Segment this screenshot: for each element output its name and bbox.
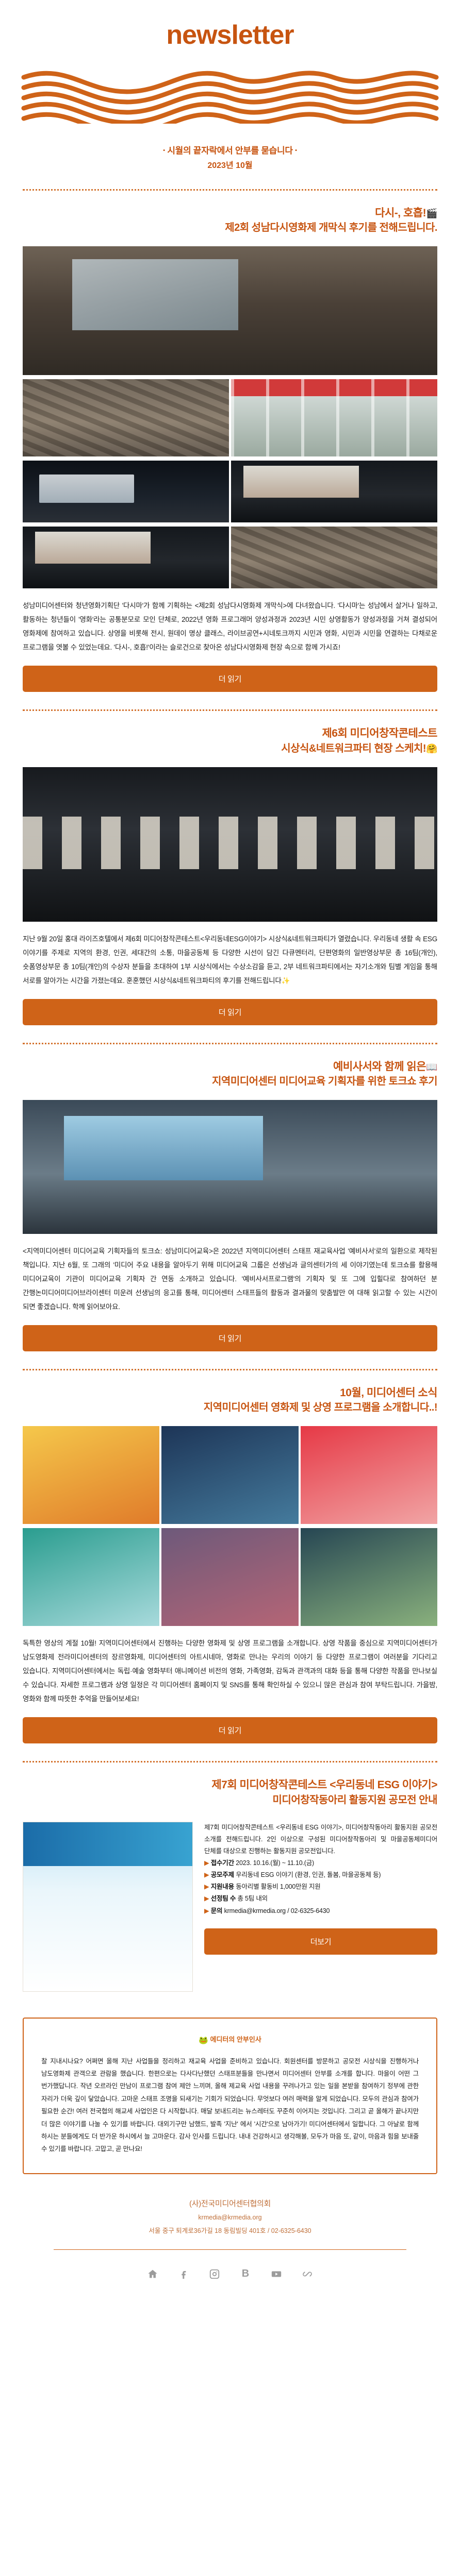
newsletter-page: newsletter ▪ 시월의 끝자락에서 안부를 묻습니다 ▪ 2023년 …	[0, 0, 460, 2301]
poster	[301, 1528, 437, 1626]
photo	[23, 461, 229, 522]
contest-more-button[interactable]: 더보기	[204, 1928, 437, 1955]
contest-section: 제7회 미디어창작콘테스트 <우리동네 ESG 이야기> 미디어창작동아리 활동…	[0, 1762, 460, 2009]
photo	[231, 379, 437, 456]
contest-details: 제7회 미디어창작콘테스트 <우리동네 ESG 이야기>, 미디어창작동아리 활…	[204, 1822, 437, 1955]
issue-date: 2023년 10월	[0, 158, 460, 171]
tagline-marker-right: ▪	[295, 147, 297, 154]
article-1-photo-row-2	[23, 461, 437, 522]
contest-poster	[23, 1822, 193, 1992]
article-4-kicker: 10월, 미디어센터 소식	[23, 1386, 437, 1400]
editor-note-body: 찰 지내시나요? 어쩌면 올해 지난 사업들을 정리하고 재교육 사업을 준비하…	[41, 2055, 419, 2156]
bullet-label: 문의	[211, 1907, 223, 1914]
facebook-icon[interactable]	[177, 2267, 190, 2281]
wave-decoration	[0, 66, 460, 124]
bullet-label: 접수기간	[211, 1859, 234, 1867]
bullet-text: krmedia@krmedia.org / 02-6325-6430	[224, 1907, 330, 1914]
article-2-read-more-button[interactable]: 더 읽기	[23, 999, 437, 1025]
divider	[23, 189, 437, 191]
divider	[23, 709, 437, 711]
article-2: 제6회 미디어창작콘테스트 시상식&네트워크파티 현장 스케치!🤗 지난 9월 …	[0, 711, 460, 1042]
photo	[23, 246, 437, 375]
photo	[23, 767, 437, 922]
footer-org-name: (사)전국미디어센터협의회	[23, 2198, 437, 2209]
poster	[161, 1528, 298, 1626]
hugging-face-icon: 🤗	[426, 743, 437, 754]
article-3: 예비사서와 함께 읽은📖 지역미디어센터 미디어교육 기획자를 위한 토크쇼 후…	[0, 1044, 460, 1369]
blog-icon[interactable]: B	[239, 2267, 252, 2281]
home-icon[interactable]	[146, 2267, 159, 2281]
contest-head: 제7회 미디어창작콘테스트 <우리동네 ESG 이야기> 미디어창작동아리 활동…	[23, 1778, 437, 1814]
article-4-poster-row-1	[23, 1426, 437, 1524]
instagram-icon[interactable]	[208, 2267, 221, 2281]
frog-icon: 🐸	[199, 2036, 208, 2045]
article-1-body: 성남미디어센터와 청년영화기획단 '다시마'가 함께 기획하는 <제2회 성남다…	[23, 599, 437, 654]
bullet-text: 동아리별 활동비 1,000만원 지원	[236, 1883, 320, 1890]
article-1-photo-row-1	[23, 379, 437, 456]
article-2-head: 제6회 미디어창작콘테스트 시상식&네트워크파티 현장 스케치!🤗	[23, 726, 437, 762]
photo	[231, 527, 437, 588]
bullet-text: 2023. 10.16.(월) ~ 11.10.(금)	[236, 1859, 314, 1867]
article-1-head: 다시-, 호흡!🎬 제2회 성남다시영화제 개막식 후기를 전해드립니다.	[23, 206, 437, 242]
bullet-arrow-icon: ▶	[204, 1859, 209, 1867]
footer-divider	[54, 2249, 406, 2250]
poster	[161, 1426, 298, 1524]
article-1-read-more-button[interactable]: 더 읽기	[23, 666, 437, 692]
article-2-kicker: 제6회 미디어창작콘테스트	[23, 726, 437, 741]
article-3-headline: 지역미디어센터 미디어교육 기획자를 위한 토크쇼 후기	[23, 1074, 437, 1089]
contest-bullets: ▶ 접수기간 2023. 10.16.(월) ~ 11.10.(금) ▶ 공모주…	[204, 1857, 437, 1917]
article-2-photo-main	[23, 767, 437, 922]
article-1-headline: 제2회 성남다시영화제 개막식 후기를 전해드립니다.	[23, 221, 437, 235]
article-3-kicker: 예비사서와 함께 읽은📖	[23, 1060, 437, 1074]
article-4-body: 독특한 영상의 계절 10월! 지역미디어센터에서 진행하는 다양한 영화제 및…	[23, 1636, 437, 1706]
editor-note-badge-label: 에디터의 안부인사	[210, 2036, 261, 2043]
poster	[23, 1528, 159, 1626]
contest-intro: 제7회 미디어창작콘테스트 <우리동네 ESG 이야기>, 미디어창작동아리 활…	[204, 1822, 437, 1857]
divider	[23, 1043, 437, 1044]
article-4-head: 10월, 미디어센터 소식 지역미디어센터 영화제 및 상영 프로그램을 소개합…	[23, 1386, 437, 1422]
article-4: 10월, 미디어센터 소식 지역미디어센터 영화제 및 상영 프로그램을 소개합…	[0, 1370, 460, 1761]
photo	[23, 1100, 437, 1234]
article-1: 다시-, 호흡!🎬 제2회 성남다시영화제 개막식 후기를 전해드립니다. 성남…	[0, 191, 460, 709]
article-1-kicker: 다시-, 호흡!🎬	[23, 206, 437, 221]
contest-bullet: ▶ 접수기간 2023. 10.16.(월) ~ 11.10.(금)	[204, 1857, 437, 1869]
poster	[301, 1426, 437, 1524]
link-icon[interactable]	[301, 2267, 314, 2281]
bullet-label: 지원내용	[211, 1883, 234, 1890]
contest-split: 제7회 미디어창작콘테스트 <우리동네 ESG 이야기>, 미디어창작동아리 활…	[23, 1822, 437, 1992]
bullet-arrow-icon: ▶	[204, 1883, 209, 1890]
divider	[23, 1369, 437, 1370]
masthead: newsletter ▪ 시월의 끝자락에서 안부를 묻습니다 ▪ 2023년 …	[0, 0, 460, 171]
photo	[231, 461, 437, 522]
clapperboard-icon: 🎬	[426, 208, 437, 219]
contest-bullet: ▶ 공모주제 우리동네 ESG 이야기 (환경, 인권, 돌봄, 마을공동체 등…	[204, 1869, 437, 1881]
page-title: newsletter	[0, 22, 460, 48]
article-2-body: 지난 9월 20일 홍대 라이즈호텔에서 제6회 미디어창작콘테스트<우리동네E…	[23, 932, 437, 988]
contest-kicker: 제7회 미디어창작콘테스트 <우리동네 ESG 이야기>	[23, 1778, 437, 1792]
bullet-arrow-icon: ▶	[204, 1895, 209, 1902]
social-links: B	[23, 2267, 437, 2281]
tagline: ▪ 시월의 끝자락에서 안부를 묻습니다 ▪	[0, 143, 460, 156]
article-3-read-more-button[interactable]: 더 읽기	[23, 1325, 437, 1351]
article-1-photo-row-3	[23, 527, 437, 588]
article-4-poster-row-2	[23, 1528, 437, 1626]
photo	[23, 379, 229, 456]
book-icon: 📖	[426, 1062, 437, 1073]
youtube-icon[interactable]	[270, 2267, 283, 2281]
article-3-head: 예비사서와 함께 읽은📖 지역미디어센터 미디어교육 기획자를 위한 토크쇼 후…	[23, 1060, 437, 1096]
article-3-photo-main	[23, 1100, 437, 1234]
article-2-headline: 시상식&네트워크파티 현장 스케치!🤗	[23, 741, 437, 756]
contest-bullet: ▶ 지원내용 동아리별 활동비 1,000만원 지원	[204, 1881, 437, 1893]
bullet-label: 공모주제	[211, 1871, 234, 1878]
footer: (사)전국미디어센터협의회 krmedia@krmedia.org 서울 중구 …	[0, 2174, 460, 2301]
poster	[23, 1426, 159, 1524]
bullet-label: 선정팀 수	[211, 1895, 236, 1902]
divider	[23, 1761, 437, 1762]
tagline-text: 시월의 끝자락에서 안부를 묻습니다	[167, 146, 292, 156]
article-3-body: <지역미디어센터 미디어교육 기획자들의 토크쇼: 성남미디어교육>은 2022…	[23, 1244, 437, 1314]
bullet-arrow-icon: ▶	[204, 1907, 209, 1914]
photo	[23, 527, 229, 588]
article-1-photo-main	[23, 246, 437, 375]
bullet-arrow-icon: ▶	[204, 1871, 209, 1878]
contest-bullet: ▶ 선정팀 수 총 5팀 내외	[204, 1893, 437, 1905]
editor-note-badge: 🐸 에디터의 안부인사	[41, 2034, 419, 2045]
contest-headline: 미디어창작동아리 활동지원 공모전 안내	[23, 1793, 437, 1807]
bullet-text: 총 5팀 내외	[237, 1895, 268, 1902]
contest-bullet: ▶ 문의 krmedia@krmedia.org / 02-6325-6430	[204, 1905, 437, 1917]
footer-address: 서울 중구 퇴계로36가길 18 동림빌딩 401호 / 02-6325-643…	[23, 2225, 437, 2235]
tagline-marker-left: ▪	[163, 147, 165, 154]
article-4-headline: 지역미디어센터 영화제 및 상영 프로그램을 소개합니다..!	[23, 1400, 437, 1415]
editor-note: 🐸 에디터의 안부인사 찰 지내시나요? 어쩌면 올해 지난 사업들을 정리하고…	[23, 2018, 437, 2174]
bullet-text: 우리동네 ESG 이야기 (환경, 인권, 돌봄, 마을공동체 등)	[236, 1871, 381, 1878]
footer-email[interactable]: krmedia@krmedia.org	[23, 2214, 437, 2221]
article-4-read-more-button[interactable]: 더 읽기	[23, 1717, 437, 1743]
